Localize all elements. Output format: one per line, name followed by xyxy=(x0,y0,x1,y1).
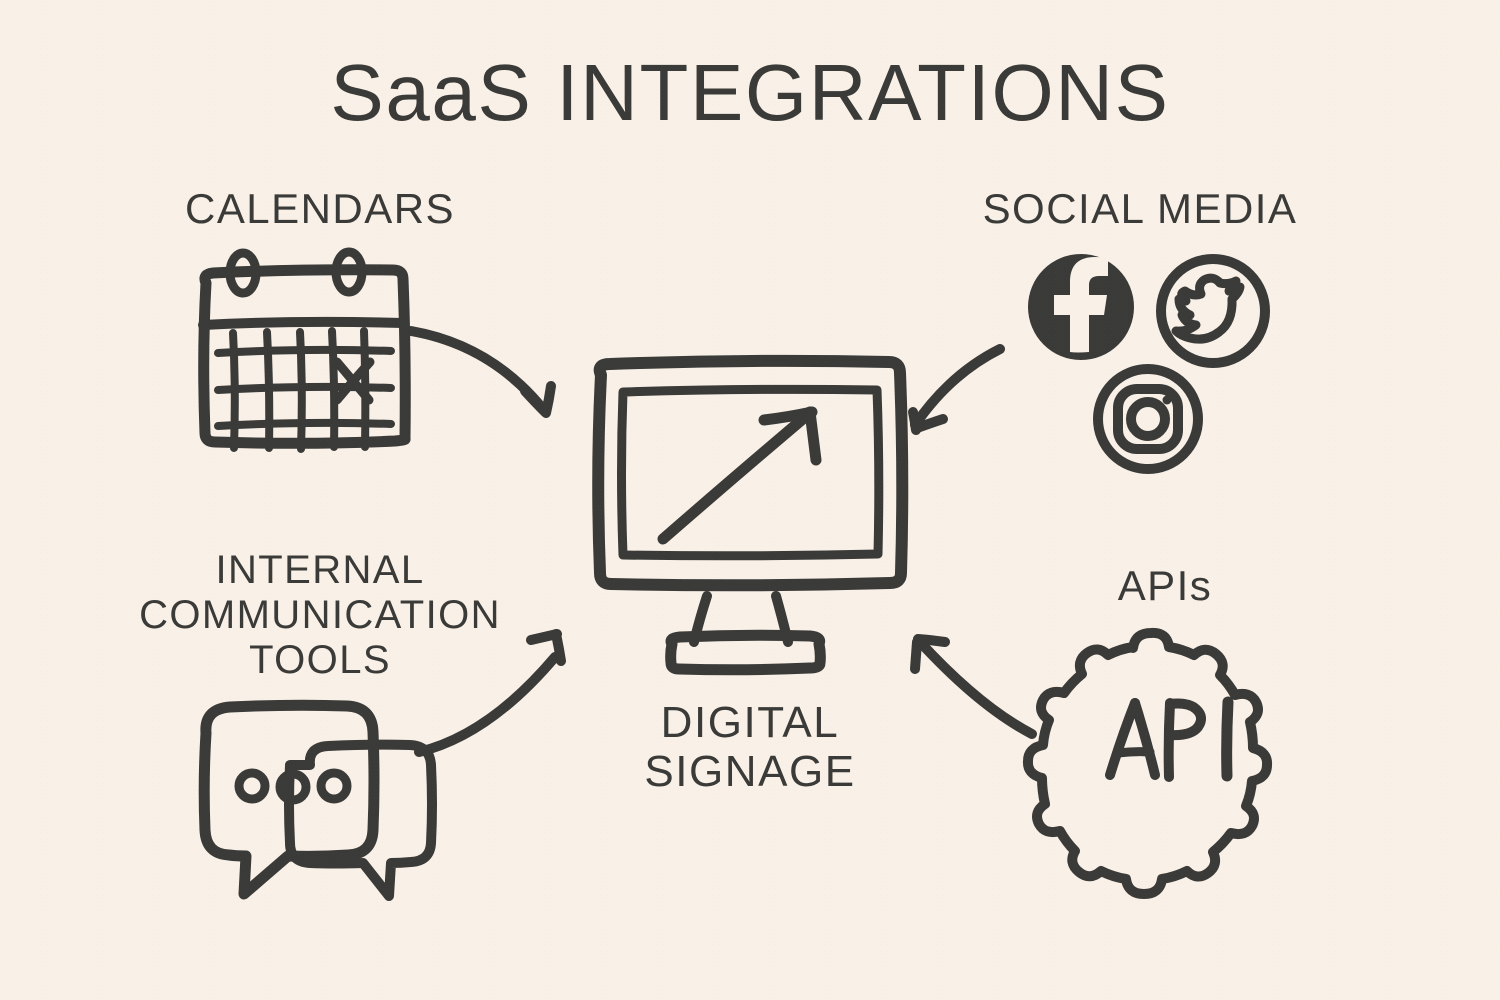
monitor-display-icon xyxy=(598,361,902,670)
label-line-3: TOOLS xyxy=(249,638,391,682)
instagram-icon xyxy=(1098,369,1198,469)
label-line-2: COMMUNICATION xyxy=(139,593,501,637)
center-label-digital-signage: DIGITALSIGNAGE xyxy=(530,698,970,797)
arrow-calendars-to-signage xyxy=(411,331,551,413)
gear-api-icon xyxy=(1028,633,1267,894)
chat-bubbles-icon xyxy=(204,705,432,896)
node-label-apis: APIs xyxy=(1000,562,1330,609)
facebook-icon xyxy=(1028,254,1134,360)
label-line-1: DIGITAL xyxy=(661,698,840,747)
diagram-artwork xyxy=(0,0,1500,1000)
diagram-canvas: SaaS INTEGRATIONS CALENDARS SOCIAL MEDIA… xyxy=(0,0,1500,1000)
node-label-internal-communication-tools: INTERNALCOMMUNICATIONTOOLS xyxy=(30,548,610,682)
label-line-1: INTERNAL xyxy=(215,548,424,592)
calendar-icon xyxy=(203,252,405,449)
page-title: SaaS INTEGRATIONS xyxy=(0,48,1500,138)
twitter-bird-icon xyxy=(1161,259,1265,363)
label-line-2: SIGNAGE xyxy=(644,747,855,796)
node-label-calendars: CALENDARS xyxy=(80,185,560,232)
gear-api-text xyxy=(1110,702,1228,777)
node-label-social-media: SOCIAL MEDIA xyxy=(900,185,1380,232)
arrow-social-to-signage xyxy=(913,349,1000,430)
